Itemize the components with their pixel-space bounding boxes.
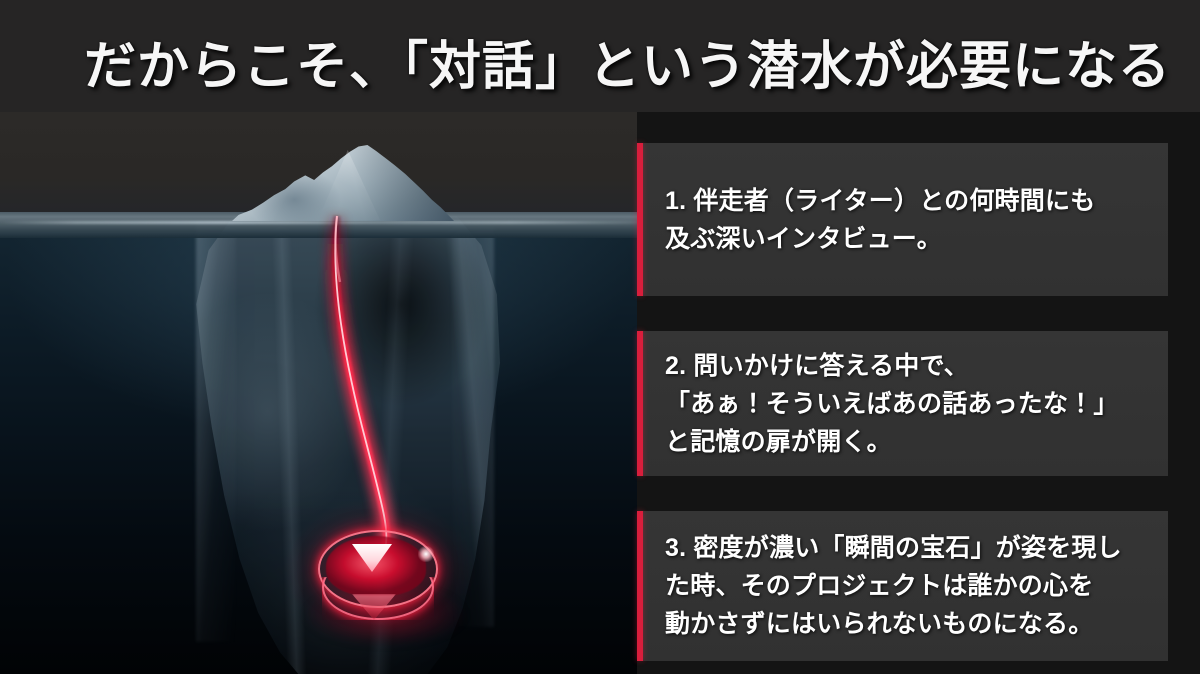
panel-1-line-2: 及ぶ深いインタビュー。 (665, 220, 1146, 258)
panel-3-text: 3. 密度が濃い「瞬間の宝石」が姿を現し た時、そのプロジェクトは誰かの心を 動… (637, 511, 1168, 661)
panel-2-text: 2. 問いかけに答える中で、 「あぁ！そういえばあの話あったな！」 と記憶の扉が… (637, 331, 1168, 476)
accent-bar-2 (637, 331, 643, 476)
gem-sparkle-icon (418, 546, 434, 562)
iceberg-illustration (0, 112, 637, 674)
panel-2-line-1: 2. 問いかけに答える中で、 (665, 347, 1146, 385)
page-title: だからこそ、「対話」という潜水が必要になる (84, 24, 1124, 99)
panel-3-line-1: 3. 密度が濃い「瞬間の宝石」が姿を現し (665, 529, 1146, 567)
panel-2-line-3: と記憶の扉が開く。 (665, 423, 1146, 461)
iceberg-left-edge-highlight (196, 222, 236, 642)
title-bar: だからこそ、「対話」という潜水が必要になる (0, 0, 1200, 112)
glowing-gem (300, 510, 460, 630)
content-panel-2[interactable]: 2. 問いかけに答える中で、 「あぁ！そういえばあの話あったな！」 と記憶の扉が… (637, 331, 1168, 476)
panel-3-line-3: 動かさずにはいられないものになる。 (665, 605, 1146, 643)
content-panel-3[interactable]: 3. 密度が濃い「瞬間の宝石」が姿を現し た時、そのプロジェクトは誰かの心を 動… (637, 511, 1168, 661)
slide-root: だからこそ、「対話」という潜水が必要になる (0, 0, 1200, 674)
panel-2-line-2: 「あぁ！そういえばあの話あったな！」 (665, 385, 1146, 423)
accent-bar-3 (637, 511, 643, 661)
accent-bar-1 (637, 143, 643, 296)
panel-3-line-2: た時、そのプロジェクトは誰かの心を (665, 567, 1146, 605)
panel-1-text: 1. 伴走者（ライター）との何時間にも 及ぶ深いインタビュー。 (637, 143, 1168, 296)
content-panel-1[interactable]: 1. 伴走者（ライター）との何時間にも 及ぶ深いインタビュー。 (637, 143, 1168, 296)
panel-1-line-1: 1. 伴走者（ライター）との何時間にも (665, 182, 1146, 220)
